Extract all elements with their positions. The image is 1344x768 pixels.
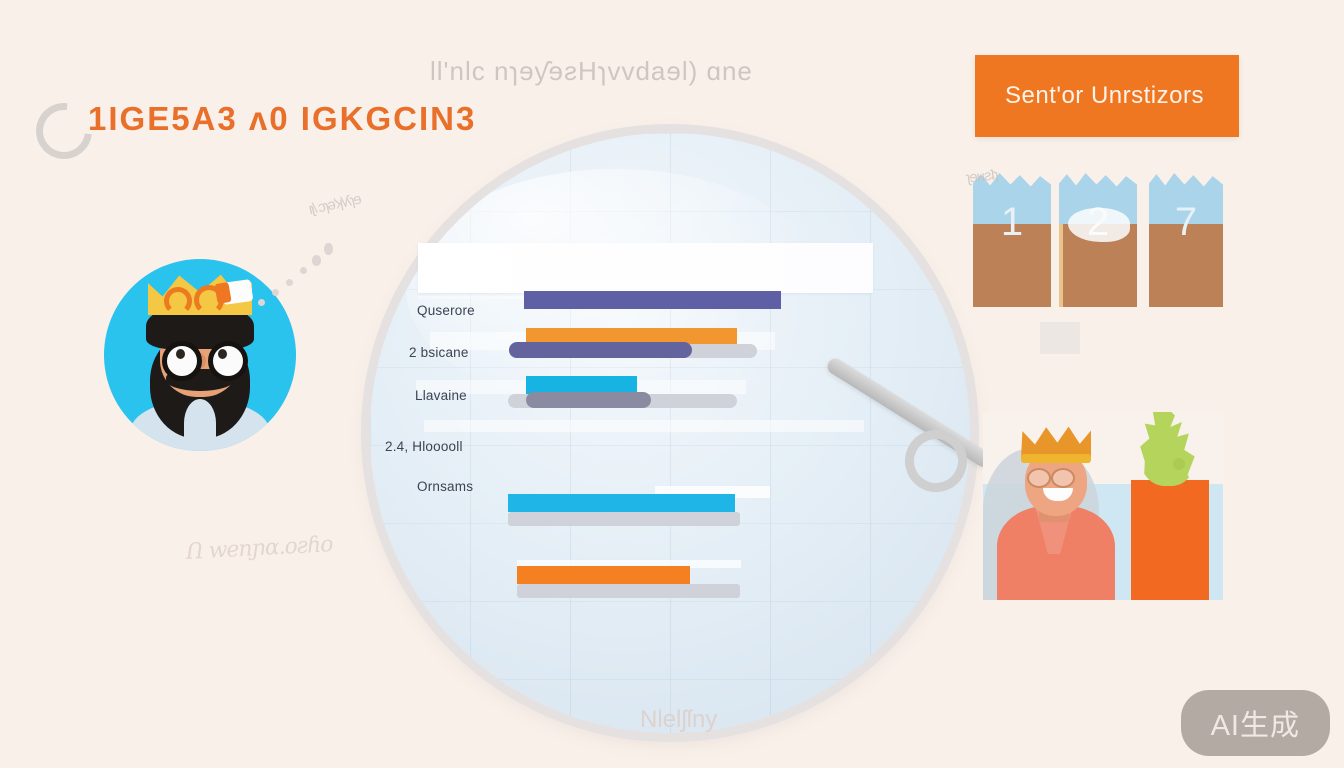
- scene-glasses-left-icon: [1027, 468, 1051, 488]
- dotted-trail: [258, 235, 388, 305]
- scene-plant-dot: [1173, 458, 1185, 470]
- canvas: 1IGE5A3 ᴧ0 IGKGCIN3 ll'nlc nɿɘƴɘƨHɿvvdaɘ…: [0, 0, 1344, 768]
- annotation-note-bottom: Nlelʃſny: [640, 706, 717, 734]
- crown-swirl-icon: [164, 287, 192, 315]
- chart-bar-track: [517, 584, 740, 598]
- avatar-beard-notch: [184, 399, 216, 447]
- row-glow: [424, 420, 864, 432]
- illustration-scene: [983, 412, 1223, 600]
- scene-glasses-right-icon: [1051, 468, 1075, 488]
- scene-orange-box: [1131, 480, 1209, 600]
- chart-header-strip: [418, 243, 873, 293]
- chart-row-label: Llavaine: [415, 388, 467, 403]
- chart-row-label: Ornsams: [417, 479, 473, 494]
- glasses-lens-right-icon: [208, 341, 248, 381]
- chart-bar-secondary[interactable]: [526, 392, 651, 408]
- chart-row-label: 2 bsicane: [409, 345, 469, 360]
- chart-bar-primary[interactable]: [524, 291, 781, 309]
- chart-bar-primary[interactable]: [517, 566, 690, 584]
- ai-watermark: AI生成: [1181, 690, 1330, 756]
- chart-row-label: Quserore: [417, 303, 475, 318]
- chart-bar-primary[interactable]: [508, 494, 735, 512]
- chart-row-label: 2.4, Hlooooll: [385, 439, 463, 454]
- avatar-pupil-left: [176, 349, 185, 359]
- scene-crown-band: [1021, 454, 1091, 463]
- chart-bar-track: [508, 512, 740, 526]
- chart-bar-secondary[interactable]: [509, 342, 692, 358]
- avatar-pupil-right: [218, 349, 227, 359]
- glasses-lens-left-icon: [162, 341, 202, 381]
